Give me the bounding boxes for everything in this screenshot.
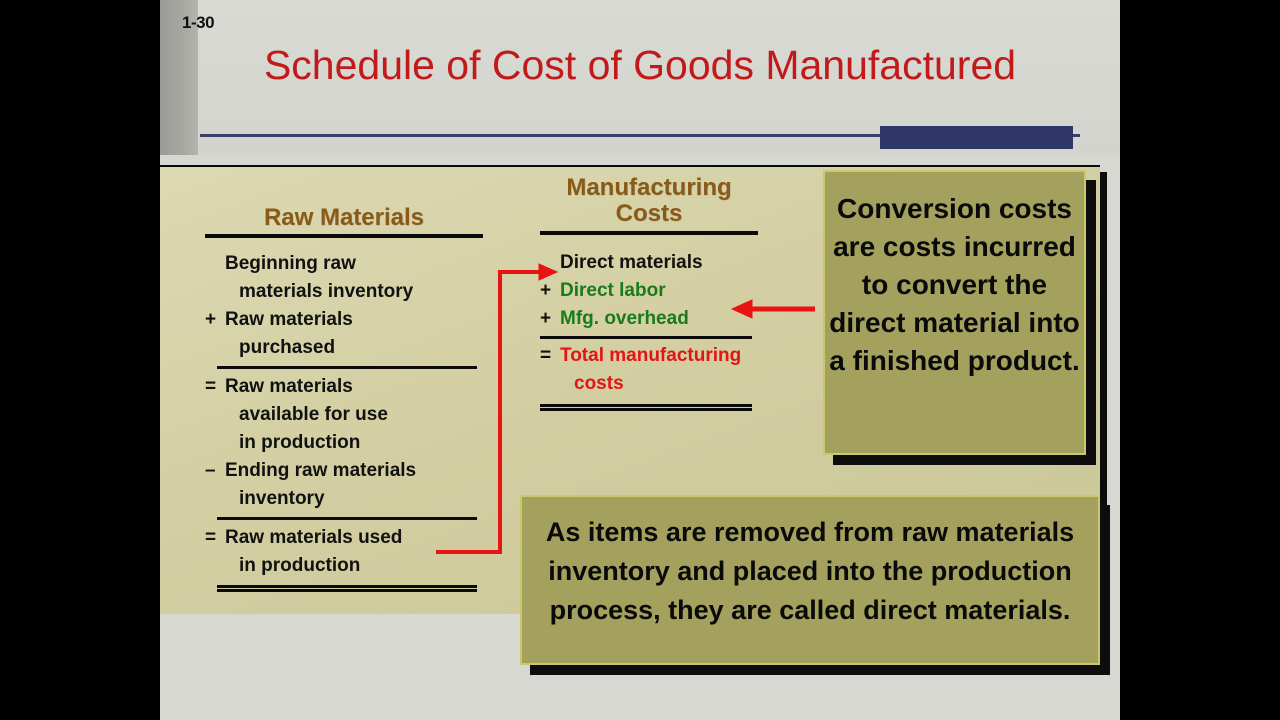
callout-conversion-costs: Conversion costs are costs incurred to c… [823, 170, 1086, 455]
page-title: Schedule of Cost of Goods Manufactured [160, 42, 1120, 89]
slide-header: 1-30 Schedule of Cost of Goods Manufactu… [160, 0, 1120, 155]
header-blue-bar [880, 126, 1073, 149]
callout-direct-materials: As items are removed from raw materials … [520, 495, 1100, 665]
screen: 1-30 Schedule of Cost of Goods Manufactu… [0, 0, 1280, 720]
content-panel: Raw Materials Beginning raw materials in… [160, 165, 1100, 614]
slide-number: 1-30 [182, 13, 214, 33]
arrowhead-to-direct-labor [732, 300, 752, 318]
slide: 1-30 Schedule of Cost of Goods Manufactu… [160, 0, 1120, 720]
arrowhead-to-direct-materials [539, 264, 557, 280]
